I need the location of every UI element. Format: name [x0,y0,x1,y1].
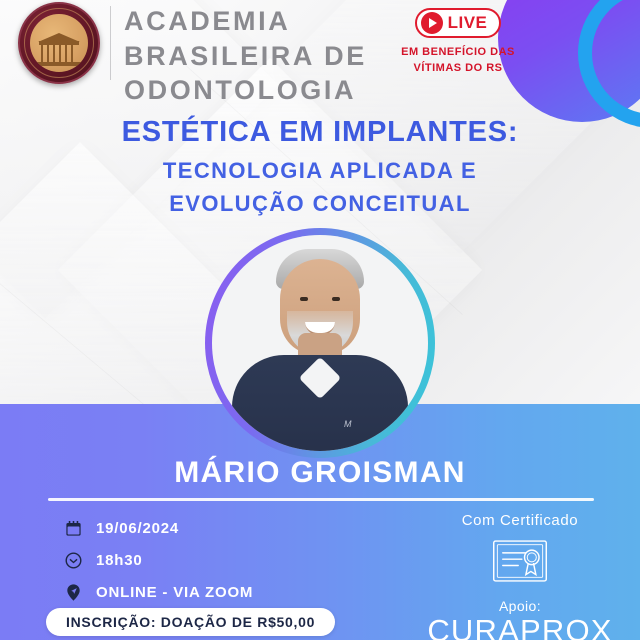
seal-inner [30,14,88,72]
academia-seal-icon [18,2,100,84]
event-date-value: 19/06/2024 [96,520,179,537]
live-subtitle-line-1: EM BENEFÍCIO DAS [392,45,524,61]
event-time-value: 18h30 [96,552,143,569]
live-subtitle: EM BENEFÍCIO DAS VÍTIMAS DO RS [392,45,524,77]
event-location-value: ONLINE - VIA ZOOM [96,584,253,601]
speaker-name: MÁRIO GROISMAN [0,456,640,490]
certificate-icon [420,538,620,584]
sponsor-label: Apoio: [420,598,620,614]
play-icon [421,12,443,34]
clock-icon [64,551,83,570]
live-pill: LIVE [415,8,502,38]
speaker-photo-ring: M [205,228,435,458]
live-badge: LIVE EM BENEFÍCIO DAS VÍTIMAS DO RS [392,8,524,77]
sponsor-block: Apoio: CURAPROX [420,598,620,640]
registration-badge[interactable]: INSCRIÇÃO: DOAÇÃO DE R$50,00 [46,608,335,636]
event-info-time: 18h30 [64,544,253,576]
temple-building-icon [37,34,81,66]
event-poster: ACADEMIA BRASILEIRA DE ODONTOLOGIA LIVE … [0,0,640,640]
event-info-date: 19/06/2024 [64,512,253,544]
live-subtitle-line-2: VÍTIMAS DO RS [392,61,524,77]
calendar-icon [64,519,83,538]
brand-line-1: ACADEMIA [124,4,367,39]
live-label: LIVE [448,13,488,33]
brand-title: ACADEMIA BRASILEIRA DE ODONTOLOGIA [124,4,367,108]
event-info-location: ONLINE - VIA ZOOM [64,576,253,608]
page-subtitle: TECNOLOGIA APLICADA E EVOLUÇÃO CONCEITUA… [0,155,640,220]
brand-line-3: ODONTOLOGIA [124,73,367,108]
event-info-list: 19/06/2024 18h30 ONLINE - VIA ZOOM [64,512,253,608]
section-divider [48,498,594,501]
speaker-photo: M [212,235,428,451]
page-title: ESTÉTICA EM IMPLANTES: [0,116,640,149]
certificate-label: Com Certificado [420,512,620,529]
brand-divider [110,6,111,80]
sponsor-name: CURAPROX [420,615,620,640]
brand-line-2: BRASILEIRA DE [124,39,367,74]
certificate-block: Com Certificado [420,512,620,584]
location-pin-icon [64,583,83,602]
page-subtitle-line-2: EVOLUÇÃO CONCEITUAL [0,188,640,221]
page-subtitle-line-1: TECNOLOGIA APLICADA E [0,155,640,188]
